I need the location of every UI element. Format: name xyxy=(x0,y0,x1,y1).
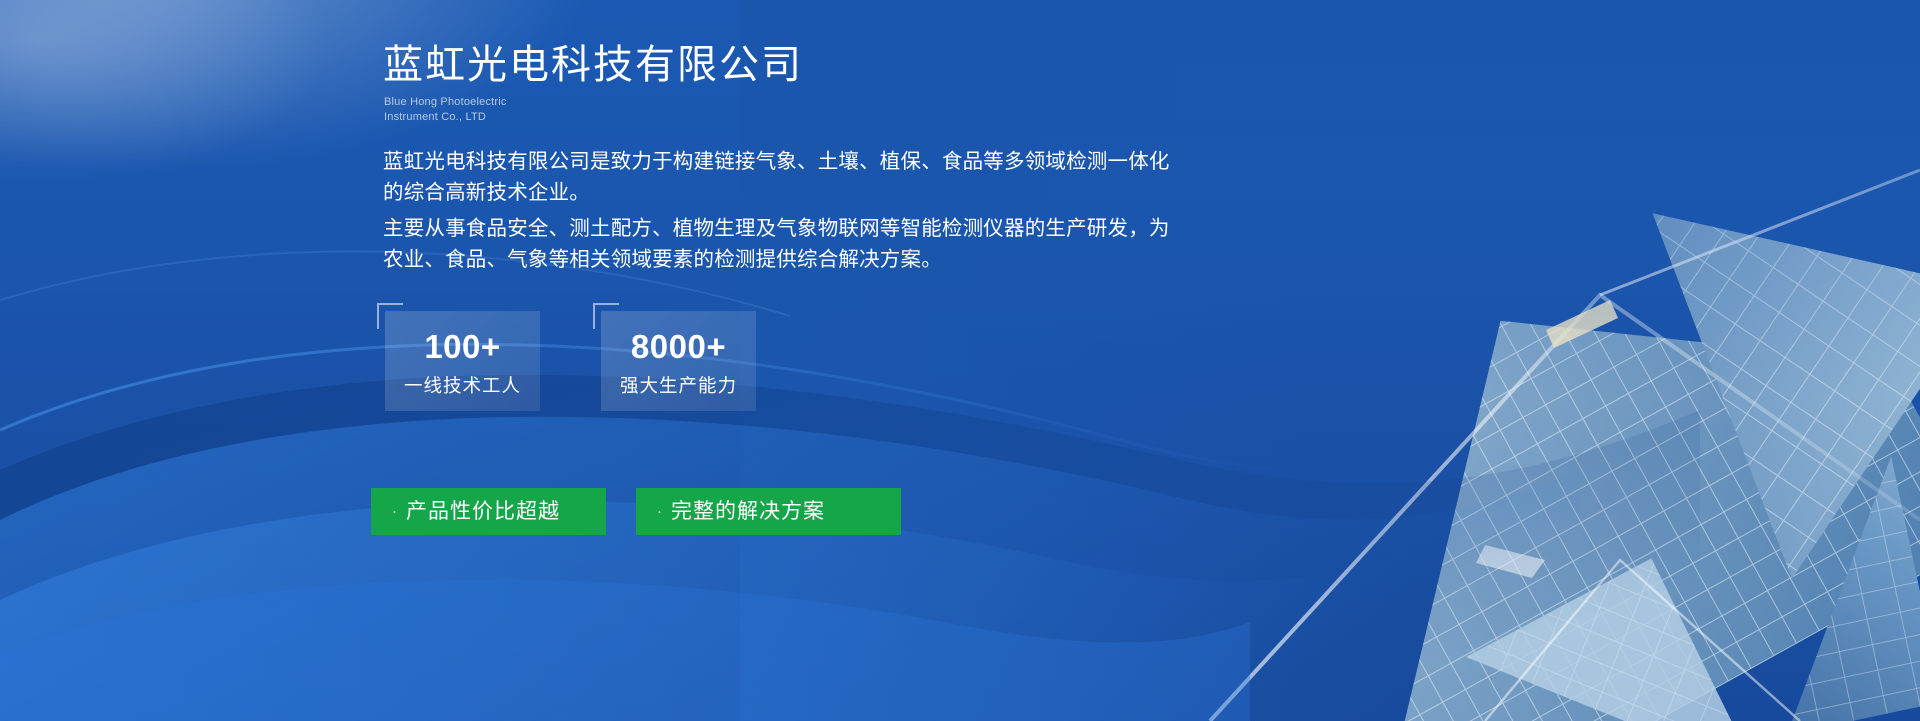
company-hero-banner: 蓝虹光电科技有限公司 Blue Hong Photoelectric Instr… xyxy=(0,0,1920,721)
feature-tag-label: 完整的解决方案 xyxy=(671,500,825,523)
stat-value: 100+ xyxy=(385,328,540,366)
company-title-en-line1: Blue Hong Photoelectric xyxy=(384,95,507,110)
stat-label: 一线技术工人 xyxy=(385,373,540,399)
bullet-icon: · xyxy=(657,503,671,520)
feature-tag-value[interactable]: ·产品性价比超越 xyxy=(371,488,606,535)
intro-paragraph-1: 蓝虹光电科技有限公司是致力于构建链接气象、土壤、植保、食品等多领域检测一体化的综… xyxy=(383,146,1183,208)
stat-card-workers: 100+ 一线技术工人 xyxy=(385,311,540,411)
company-title-cn: 蓝虹光电科技有限公司 xyxy=(383,40,803,90)
feature-tag-label: 产品性价比超越 xyxy=(406,500,560,523)
company-title-en: Blue Hong Photoelectric Instrument Co., … xyxy=(384,95,507,124)
company-title-en-line2: Instrument Co., LTD xyxy=(384,110,507,125)
hero-content: 蓝虹光电科技有限公司 Blue Hong Photoelectric Instr… xyxy=(383,0,1483,721)
stat-value: 8000+ xyxy=(601,328,756,366)
bullet-icon: · xyxy=(392,503,406,520)
feature-tag-solution[interactable]: ·完整的解决方案 xyxy=(636,488,901,535)
stat-card-capacity: 8000+ 强大生产能力 xyxy=(601,311,756,411)
stat-label: 强大生产能力 xyxy=(601,373,756,399)
intro-paragraph-2: 主要从事食品安全、测土配方、植物生理及气象物联网等智能检测仪器的生产研发，为农业… xyxy=(383,213,1183,275)
